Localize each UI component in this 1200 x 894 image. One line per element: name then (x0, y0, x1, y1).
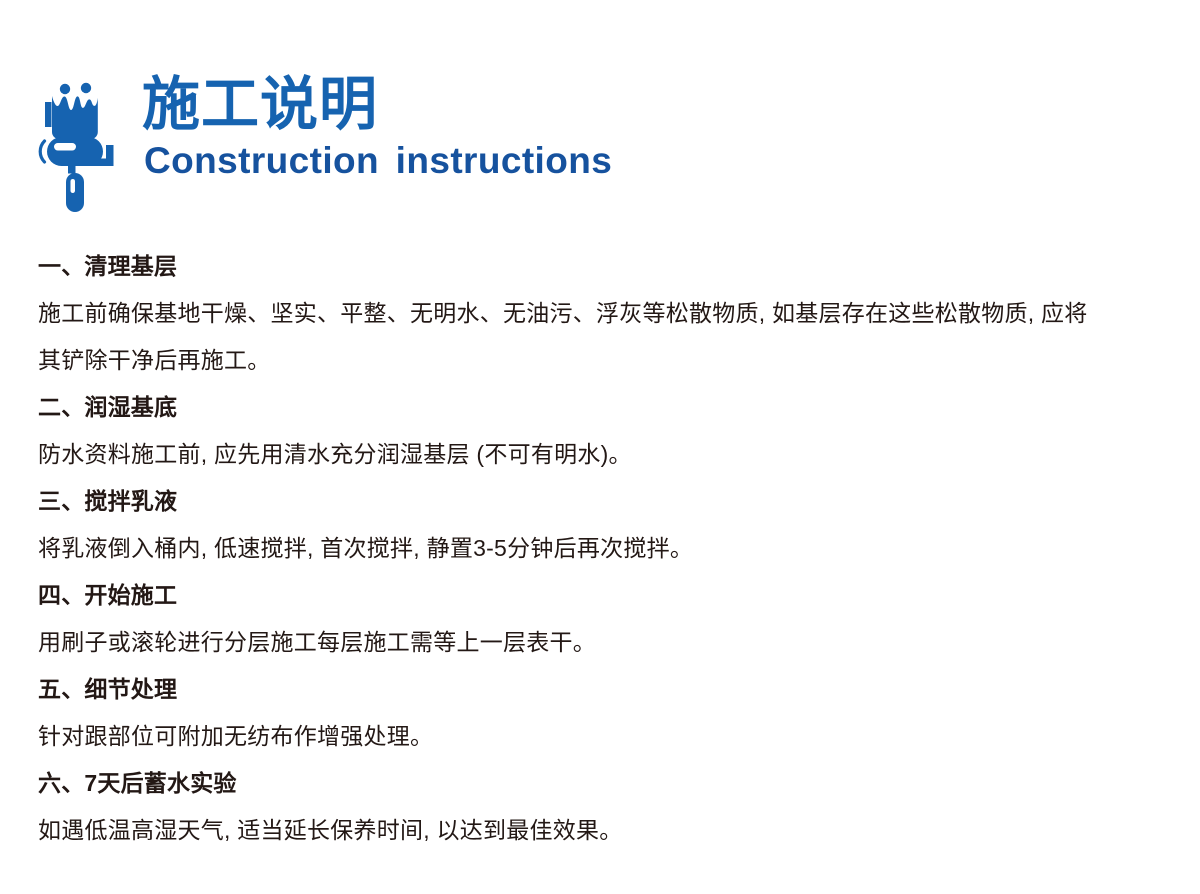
section-heading: 一、清理基层 (38, 243, 1168, 290)
section-wet-base: 二、润湿基底 防水资料施工前, 应先用清水充分润湿基层 (不可有明水)。 (38, 384, 1168, 478)
section-heading: 六、7天后蓄水实验 (38, 760, 1168, 807)
page-title-cn: 施工说明 (142, 74, 612, 136)
page-title-en: Construction instructions (144, 139, 612, 183)
header-titles: 施工说明 Construction instructions (142, 74, 612, 183)
section-heading: 二、润湿基底 (38, 384, 1168, 431)
section-body: 将乳液倒入桶内, 低速搅拌, 首次搅拌, 静置3-5分钟后再次搅拌。 (38, 525, 1168, 572)
section-body: 用刷子或滚轮进行分层施工每层施工需等上一层表干。 (38, 619, 1168, 666)
section-clean-substrate: 一、清理基层 施工前确保基地干燥、坚实、平整、无明水、无油污、浮灰等松散物质, … (38, 243, 1168, 384)
section-body: 针对跟部位可附加无纺布作增强处理。 (38, 713, 1168, 760)
construction-instructions-page: 施工说明 Construction instructions 一、清理基层 施工… (0, 0, 1200, 894)
section-heading: 三、搅拌乳液 (38, 478, 1168, 525)
section-body: 施工前确保基地干燥、坚实、平整、无明水、无油污、浮灰等松散物质, 如基层存在这些… (38, 290, 1110, 384)
paint-roller-icon (36, 78, 132, 212)
section-body: 如遇低温高湿天气, 适当延长保养时间, 以达到最佳效果。 (38, 807, 1168, 854)
section-body: 防水资料施工前, 应先用清水充分润湿基层 (不可有明水)。 (38, 431, 1168, 478)
section-detail-treatment: 五、细节处理 针对跟部位可附加无纺布作增强处理。 (38, 666, 1168, 760)
section-heading: 四、开始施工 (38, 572, 1168, 619)
instructions-content: 一、清理基层 施工前确保基地干燥、坚实、平整、无明水、无油污、浮灰等松散物质, … (38, 243, 1168, 854)
section-start-construction: 四、开始施工 用刷子或滚轮进行分层施工每层施工需等上一层表干。 (38, 572, 1168, 666)
page-header: 施工说明 Construction instructions (36, 74, 612, 212)
section-water-test: 六、7天后蓄水实验 如遇低温高湿天气, 适当延长保养时间, 以达到最佳效果。 (38, 760, 1168, 854)
section-heading: 五、细节处理 (38, 666, 1168, 713)
section-stir-emulsion: 三、搅拌乳液 将乳液倒入桶内, 低速搅拌, 首次搅拌, 静置3-5分钟后再次搅拌… (38, 478, 1168, 572)
